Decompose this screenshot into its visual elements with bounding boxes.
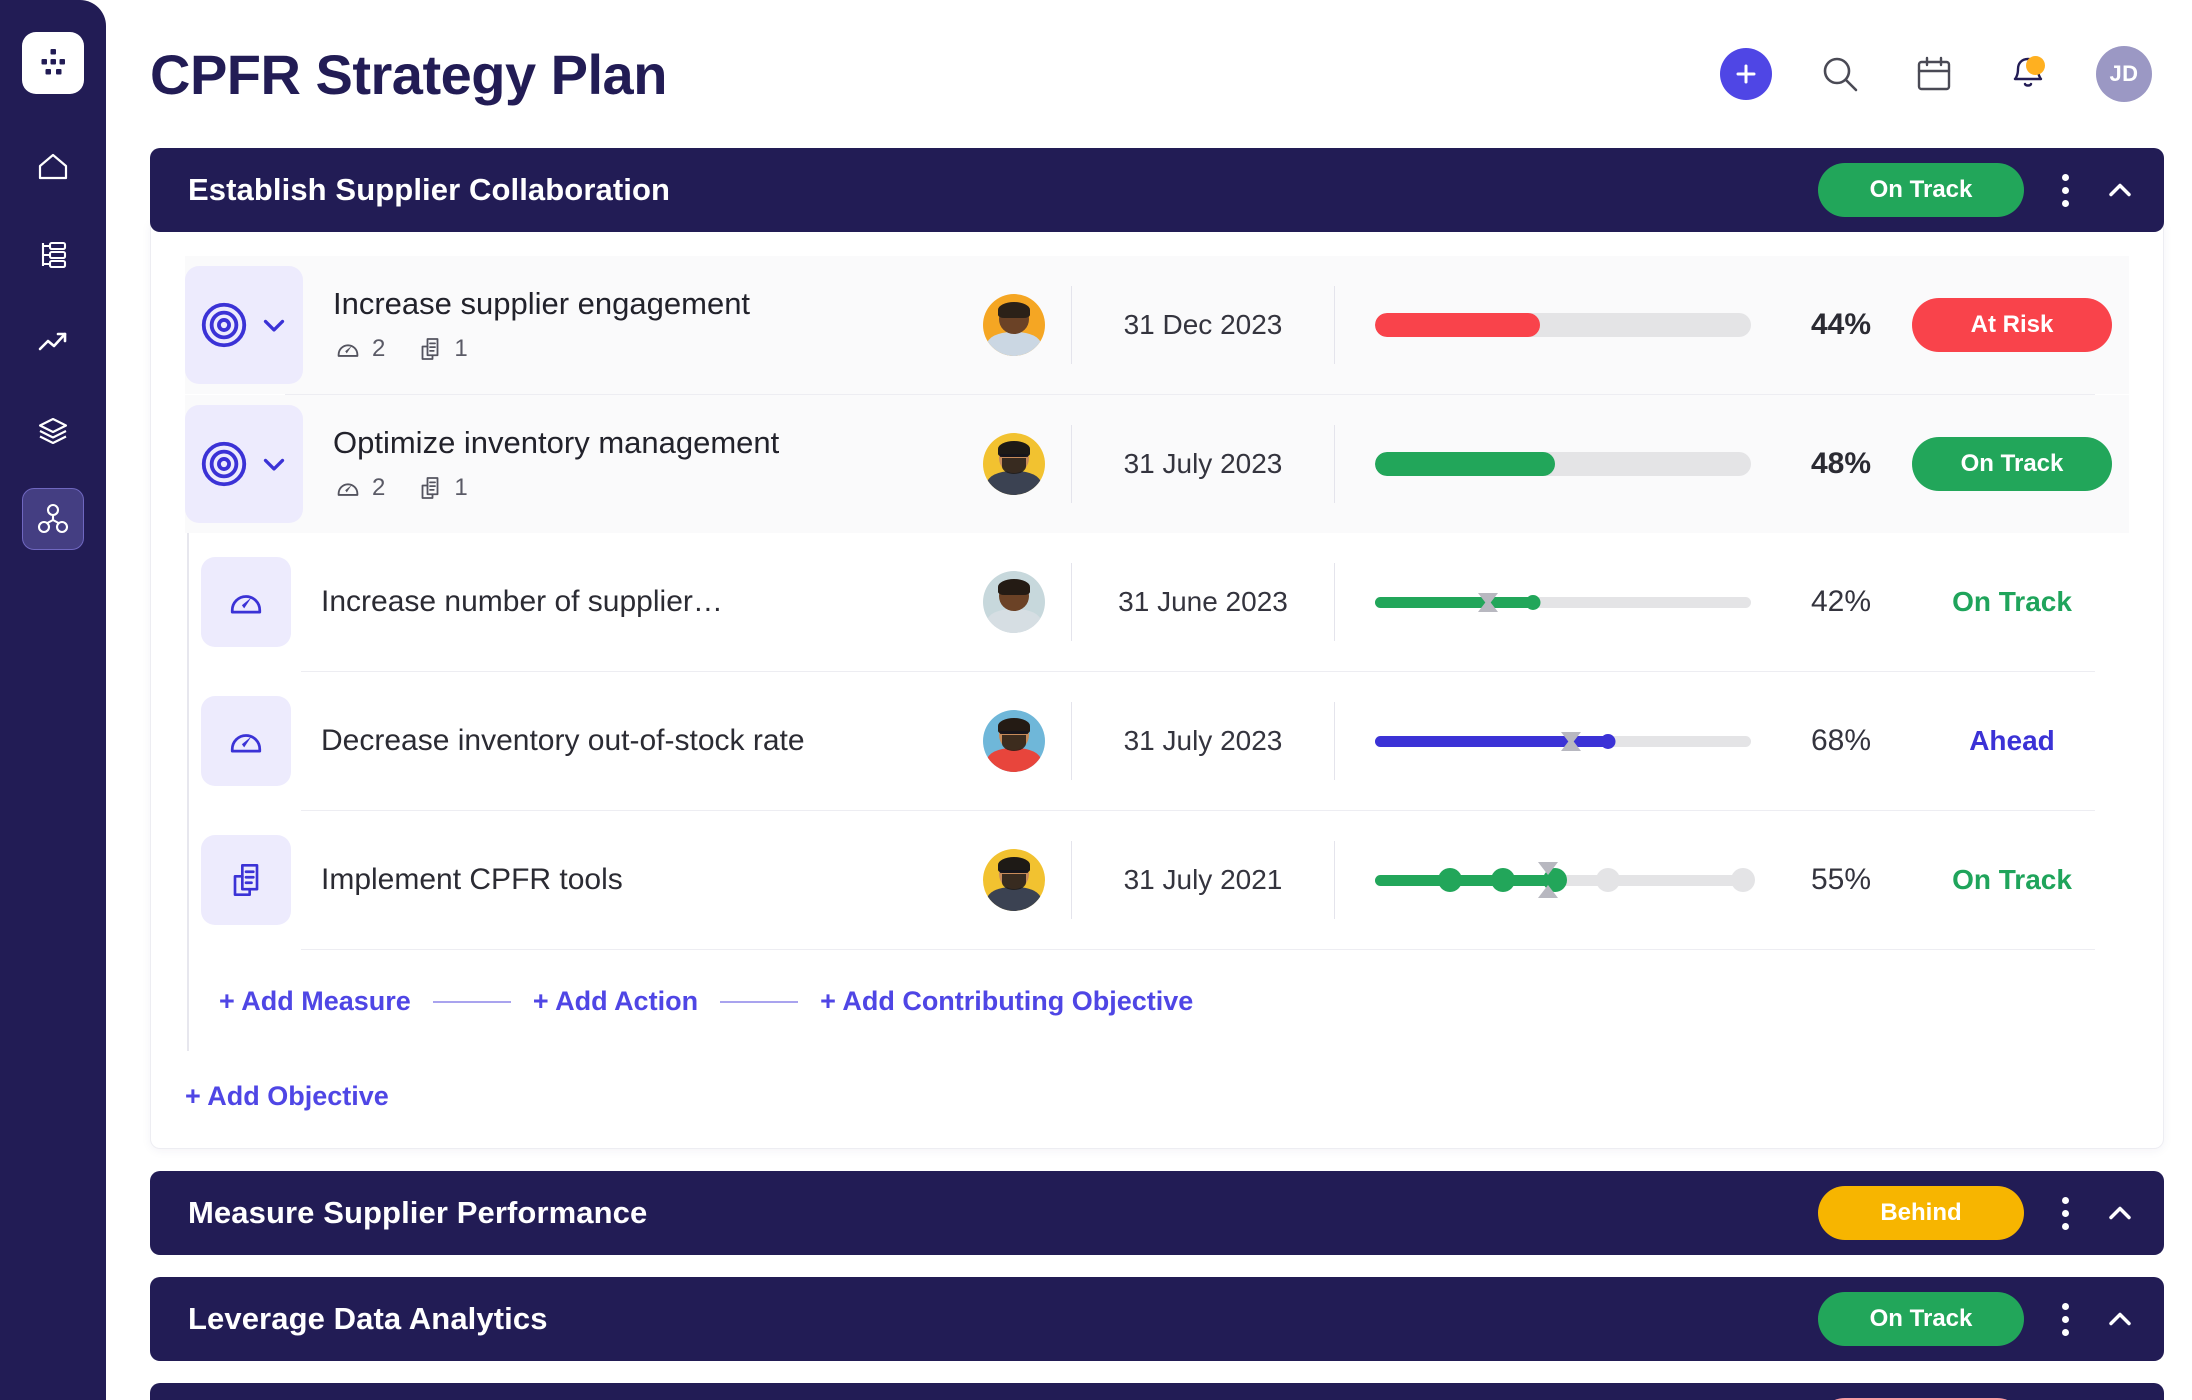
- progress-knob[interactable]: [1525, 595, 1540, 610]
- home-icon: [33, 147, 73, 187]
- row-label-wrap: Optimize inventory management 2 1: [303, 425, 983, 503]
- calendar-icon: [1912, 52, 1956, 96]
- meta-action-doc-icon[interactable]: 1: [415, 473, 467, 503]
- status-label: On Track: [1952, 864, 2072, 896]
- group-title: Leverage Data Analytics: [188, 1301, 1818, 1337]
- plus-icon: [1732, 60, 1760, 88]
- meta-gauge-icon[interactable]: 2: [333, 334, 385, 364]
- cell-divider: [1071, 286, 1072, 364]
- status-badge[interactable]: On Track: [1912, 437, 2112, 491]
- gauge-icon: [224, 580, 268, 624]
- add-objective-link[interactable]: + Add Objective: [151, 1051, 2163, 1148]
- chevron-down-icon: [257, 447, 291, 481]
- row-due-date: 31 July 2021: [1098, 864, 1308, 896]
- row-due-date: 31 Dec 2023: [1098, 309, 1308, 341]
- chevron-up-icon: [2102, 1195, 2138, 1231]
- avatar-face: [983, 710, 1045, 772]
- group-status-badge[interactable]: On Track: [1818, 163, 2024, 217]
- group-more-menu[interactable]: [2042, 1303, 2088, 1336]
- progress-bar: [1375, 452, 1751, 476]
- meta-count: 2: [372, 335, 385, 363]
- rows: Increase supplier engagement 2 1: [151, 256, 2163, 533]
- status-cell: At Risk: [1879, 298, 2129, 352]
- milestone-dot[interactable]: [1596, 868, 1620, 892]
- avatar: [983, 294, 1045, 356]
- milestone-dot[interactable]: [1491, 868, 1515, 892]
- progress-knob[interactable]: [1601, 734, 1616, 749]
- top-bar: CPFR Strategy Plan: [150, 0, 2164, 148]
- top-bar-actions: JD: [1720, 46, 2152, 102]
- cell-divider: [1071, 702, 1072, 780]
- row-label-wrap: Increase number of supplier…: [291, 585, 983, 619]
- page-title: CPFR Strategy Plan: [150, 42, 667, 107]
- progress-percent: 68%: [1751, 724, 1879, 758]
- group-collapse-toggle[interactable]: [2102, 172, 2138, 208]
- status-badge[interactable]: At Risk: [1912, 298, 2112, 352]
- child-add-links: + Add Measure + Add Action + Add Contrib…: [167, 950, 2163, 1051]
- expand-toggle[interactable]: [257, 308, 291, 342]
- main-content: CPFR Strategy Plan: [106, 0, 2192, 1400]
- row-due-date: 31 July 2023: [1098, 725, 1308, 757]
- objective-groups: Establish Supplier Collaboration On Trac…: [150, 148, 2164, 1400]
- progress-cell: [1361, 582, 1751, 622]
- status-cell: On Track: [1879, 864, 2129, 896]
- calendar-button[interactable]: [1908, 48, 1960, 100]
- row-label-wrap: Increase supplier engagement 2 1: [303, 286, 983, 364]
- avatar-face: [983, 294, 1045, 356]
- row-due-date: 31 June 2023: [1098, 586, 1308, 618]
- objective-group: At Risk: [150, 1383, 2164, 1400]
- milestone-dot[interactable]: [1731, 868, 1755, 892]
- action-doc-icon: [415, 473, 445, 503]
- group-header[interactable]: At Risk: [150, 1383, 2164, 1400]
- row-type-icon[interactable]: [185, 266, 303, 384]
- milestone-dot[interactable]: [1438, 868, 1462, 892]
- group-title: Measure Supplier Performance: [188, 1195, 1818, 1231]
- target-marker-bottom: [1538, 885, 1558, 898]
- cell-divider: [1334, 425, 1335, 503]
- row-type-icon[interactable]: [201, 696, 291, 786]
- network-logo-icon: [35, 45, 71, 81]
- cell-divider: [1334, 841, 1335, 919]
- row-label-wrap: Decrease inventory out-of-stock rate: [291, 724, 983, 758]
- target-marker-bottom: [1478, 599, 1498, 612]
- action-row[interactable]: Implement CPFR tools 31 July 2021: [201, 811, 2129, 949]
- avatar: [983, 433, 1045, 495]
- search-icon: [1818, 52, 1862, 96]
- chevron-down-icon: [257, 308, 291, 342]
- progress-percent: 44%: [1751, 308, 1879, 342]
- progress-slider[interactable]: [1375, 721, 1751, 761]
- meta-action-doc-icon[interactable]: 1: [415, 334, 467, 364]
- notification-dot: [2026, 56, 2045, 75]
- objective-row[interactable]: Increase supplier engagement 2 1: [185, 256, 2129, 394]
- plan-tree-icon: [33, 235, 73, 275]
- meta-count: 2: [372, 474, 385, 502]
- status-cell: On Track: [1879, 437, 2129, 491]
- row-label: Implement CPFR tools: [321, 863, 983, 897]
- gauge-icon: [224, 719, 268, 763]
- objective-group: Measure Supplier Performance Behind: [150, 1171, 2164, 1255]
- action-doc-icon: [415, 334, 445, 364]
- target-marker-bottom: [1561, 738, 1581, 751]
- avatar-face: [983, 433, 1045, 495]
- chevron-up-icon: [2102, 1301, 2138, 1337]
- objective-group: Establish Supplier Collaboration On Trac…: [150, 148, 2164, 1149]
- objective-group: Leverage Data Analytics On Track: [150, 1277, 2164, 1361]
- meta-gauge-icon[interactable]: 2: [333, 473, 385, 503]
- row-due-date: 31 July 2023: [1098, 448, 1308, 480]
- layers-icon: [33, 411, 73, 451]
- row-type-icon[interactable]: [201, 835, 291, 925]
- strategy-map-icon: [33, 499, 73, 539]
- target-icon: [197, 298, 251, 352]
- gauge-icon: [333, 334, 363, 364]
- avatar: [983, 849, 1045, 911]
- status-cell: Ahead: [1879, 725, 2129, 757]
- link-divider: [720, 1001, 798, 1003]
- group-header[interactable]: Measure Supplier Performance Behind: [150, 1171, 2164, 1255]
- progress-percent: 55%: [1751, 863, 1879, 897]
- meta-count: 1: [454, 474, 467, 502]
- row-type-icon[interactable]: [185, 405, 303, 523]
- status-label: Ahead: [1969, 725, 2055, 757]
- measure-row[interactable]: Increase number of supplier… 31 June 202…: [201, 533, 2129, 671]
- group-title: Establish Supplier Collaboration: [188, 172, 1818, 208]
- gauge-icon: [333, 473, 363, 503]
- link-divider: [433, 1001, 511, 1003]
- target-icon: [197, 437, 251, 491]
- target-marker-top: [1538, 862, 1558, 875]
- progress-percent: 48%: [1751, 447, 1879, 481]
- cell-divider: [1071, 425, 1072, 503]
- row-label: Decrease inventory out-of-stock rate: [321, 724, 983, 758]
- avatar: [983, 710, 1045, 772]
- avatar: [983, 571, 1045, 633]
- cell-divider: [1071, 563, 1072, 641]
- user-avatar[interactable]: JD: [2096, 46, 2152, 102]
- status-cell: On Track: [1879, 586, 2129, 618]
- progress-cell: [1361, 452, 1751, 476]
- group-more-menu[interactable]: [2042, 174, 2088, 207]
- nesting-guide-line: [187, 533, 189, 1051]
- notifications-button[interactable]: [2002, 48, 2054, 100]
- row-label: Increase supplier engagement: [333, 286, 983, 322]
- objective-row[interactable]: Optimize inventory management 2 1: [185, 395, 2129, 533]
- sidebar: [0, 0, 106, 1400]
- sidebar-item-home[interactable]: [22, 136, 84, 198]
- group-status-badge[interactable]: On Track: [1818, 1292, 2024, 1346]
- search-button[interactable]: [1814, 48, 1866, 100]
- action-doc-icon: [224, 858, 268, 902]
- expand-toggle[interactable]: [257, 447, 291, 481]
- progress-cell: [1361, 860, 1751, 900]
- trending-up-icon: [33, 323, 73, 363]
- sidebar-item-layers[interactable]: [22, 400, 84, 462]
- progress-cell: [1361, 721, 1751, 761]
- group-header[interactable]: Leverage Data Analytics On Track: [150, 1277, 2164, 1361]
- row-type-icon[interactable]: [201, 557, 291, 647]
- add-button[interactable]: [1720, 48, 1772, 100]
- sidebar-item-strategy-map[interactable]: [22, 488, 84, 550]
- nested-rows: Increase number of supplier… 31 June 202…: [151, 533, 2163, 1051]
- group-collapse-toggle[interactable]: [2102, 1195, 2138, 1231]
- cell-divider: [1334, 702, 1335, 780]
- measure-row[interactable]: Decrease inventory out-of-stock rate 31 …: [201, 672, 2129, 810]
- app-logo[interactable]: [22, 32, 84, 94]
- cell-divider: [1334, 286, 1335, 364]
- group-body: Increase supplier engagement 2 1: [150, 222, 2164, 1149]
- avatar-face: [983, 849, 1045, 911]
- milestone-track[interactable]: [1375, 860, 1751, 900]
- add-measure-link[interactable]: + Add Measure: [219, 986, 411, 1017]
- cell-divider: [1071, 841, 1072, 919]
- add-action-link[interactable]: + Add Action: [533, 986, 698, 1017]
- row-label: Optimize inventory management: [333, 425, 983, 461]
- chevron-up-icon: [2102, 172, 2138, 208]
- row-meta: 2 1: [333, 334, 983, 364]
- meta-count: 1: [454, 335, 467, 363]
- cell-divider: [1334, 563, 1335, 641]
- status-label: On Track: [1952, 586, 2072, 618]
- row-meta: 2 1: [333, 473, 983, 503]
- group-more-menu[interactable]: [2042, 1197, 2088, 1230]
- avatar-face: [983, 571, 1045, 633]
- group-collapse-toggle[interactable]: [2102, 1301, 2138, 1337]
- row-label-wrap: Implement CPFR tools: [291, 863, 983, 897]
- group-status-badge[interactable]: Behind: [1818, 1186, 2024, 1240]
- sidebar-item-analytics[interactable]: [22, 312, 84, 374]
- add-contributing-objective-link[interactable]: + Add Contributing Objective: [820, 986, 1193, 1017]
- progress-bar: [1375, 313, 1751, 337]
- sidebar-item-plans[interactable]: [22, 224, 84, 286]
- group-header[interactable]: Establish Supplier Collaboration On Trac…: [150, 148, 2164, 232]
- progress-slider[interactable]: [1375, 582, 1751, 622]
- row-label: Increase number of supplier…: [321, 585, 983, 619]
- progress-percent: 42%: [1751, 585, 1879, 619]
- progress-cell: [1361, 313, 1751, 337]
